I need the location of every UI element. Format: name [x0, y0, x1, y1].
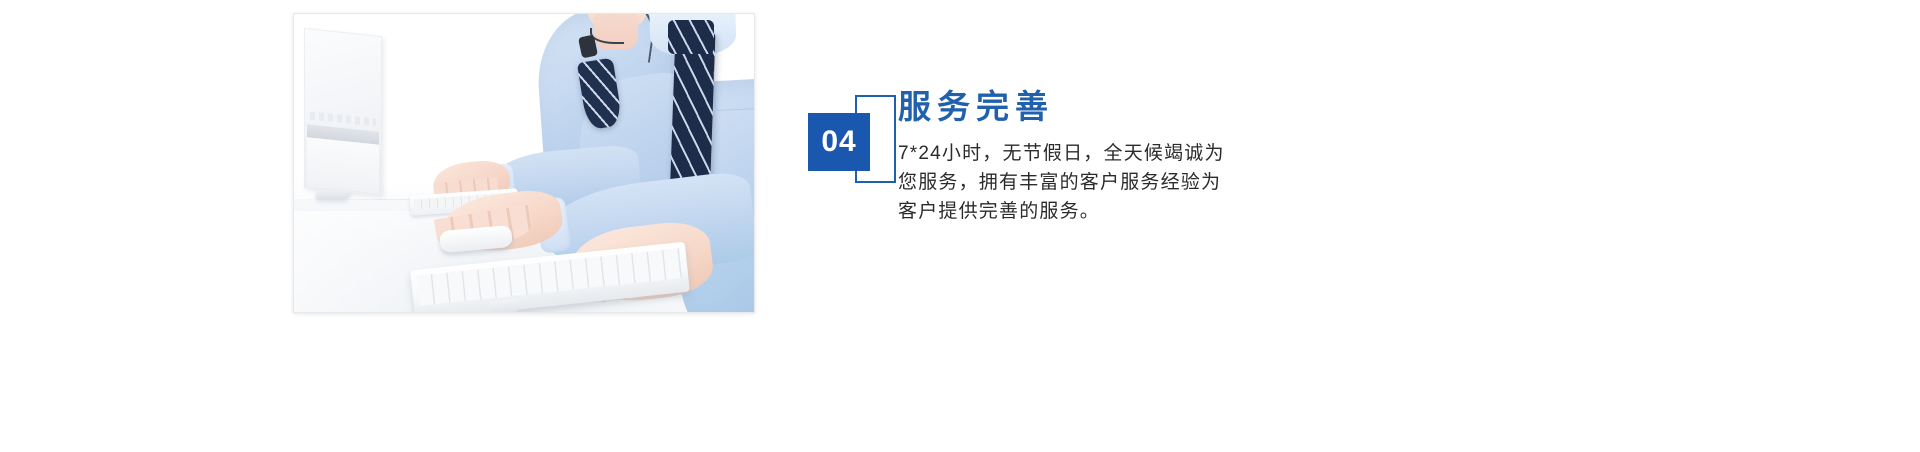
feature-title: 服务完善	[898, 86, 1318, 127]
feature-description: 7*24小时，无节假日，全天候竭诚为 您服务，拥有丰富的客户服务经验为 客户提供…	[898, 139, 1290, 226]
feature-text-column: 服务完善 7*24小时，无节假日，全天候竭诚为 您服务，拥有丰富的客户服务经验为…	[898, 86, 1318, 226]
agent-front-shirt-pocket	[713, 69, 754, 111]
monitor-bezel	[307, 137, 379, 194]
step-badge-square: 04	[808, 113, 870, 171]
step-badge-number: 04	[821, 127, 856, 157]
monitor-stand	[315, 190, 351, 200]
feature-photo-frame	[293, 13, 755, 313]
feature-description-line-2: 您服务，拥有丰富的客户服务经验为	[898, 168, 1290, 197]
page-root: 04 服务完善 7*24小时，无节假日，全天候竭诚为 您服务，拥有丰富的客户服务…	[0, 0, 1920, 452]
agent-front-necktie-knot	[668, 20, 714, 54]
imac-monitor-icon	[304, 28, 382, 196]
feature-description-line-1: 7*24小时，无节假日，全天候竭诚为	[898, 139, 1290, 168]
feature-description-line-3: 客户提供完善的服务。	[898, 197, 1290, 226]
call-center-photo	[294, 14, 754, 312]
keyboard-foot	[489, 298, 520, 312]
step-badge: 04	[808, 95, 908, 195]
